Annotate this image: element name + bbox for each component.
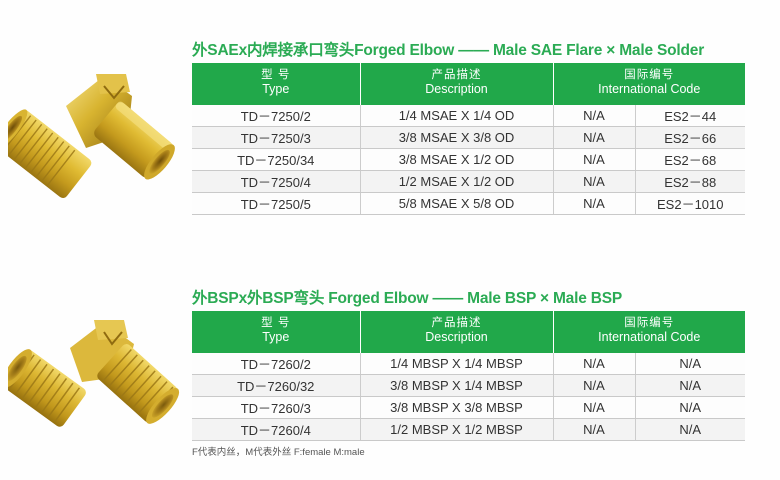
cell-description: 1/2 MBSP X 1/2 MBSP [360, 419, 553, 441]
column-header-description-en: Description [361, 330, 553, 345]
section-title: 外BSPx外BSP弯头 Forged Elbow —— Male BSP × M… [192, 286, 622, 308]
cell-type: TD－7250/34 [192, 149, 360, 171]
cell-international-code-b: N/A [635, 397, 745, 419]
cell-international-code-b: N/A [635, 419, 745, 441]
cell-international-code-b: N/A [635, 375, 745, 397]
cell-international-code-b: ES2－66 [635, 127, 745, 149]
table-header: 型 号 Type 产品描述 Description 国际编号 Internati… [192, 311, 745, 353]
cell-description: 3/8 MBSP X 3/8 MBSP [360, 397, 553, 419]
cell-international-code-a: N/A [553, 105, 635, 127]
cell-description: 5/8 MSAE X 5/8 OD [360, 193, 553, 215]
cell-description: 1/4 MSAE X 1/4 OD [360, 105, 553, 127]
column-header-description-en: Description [361, 82, 553, 97]
cell-description: 3/8 MBSP X 1/4 MBSP [360, 375, 553, 397]
footnote: F代表内丝，M代表外丝 F:female M:male [192, 444, 365, 458]
cell-type: TD－7260/2 [192, 353, 360, 375]
column-header-description: 产品描述 Description [360, 311, 553, 353]
column-header-description-cn: 产品描述 [361, 317, 553, 331]
column-header-international-code-en: International Code [554, 330, 746, 345]
table-row: TD－7250/343/8 MSAE X 1/2 ODN/AES2－68 [192, 149, 745, 171]
column-header-international-code-cn: 国际编号 [554, 69, 746, 83]
cell-international-code-a: N/A [553, 171, 635, 193]
column-header-international-code-en: International Code [554, 82, 746, 97]
table-row: TD－7260/41/2 MBSP X 1/2 MBSPN/AN/A [192, 419, 745, 441]
cell-international-code-a: N/A [553, 375, 635, 397]
column-header-type-cn: 型 号 [192, 69, 360, 83]
cell-type: TD－7250/2 [192, 105, 360, 127]
table-header: 型 号 Type 产品描述 Description 国际编号 Internati… [192, 63, 745, 105]
cell-type: TD－7260/4 [192, 419, 360, 441]
table-row: TD－7250/55/8 MSAE X 5/8 ODN/AES2－1010 [192, 193, 745, 215]
cell-description: 3/8 MSAE X 1/2 OD [360, 149, 553, 171]
table-row: TD－7260/33/8 MBSP X 3/8 MBSPN/AN/A [192, 397, 745, 419]
cell-type: TD－7250/4 [192, 171, 360, 193]
table-body: TD－7250/21/4 MSAE X 1/4 ODN/AES2－44TD－72… [192, 105, 745, 215]
column-header-international-code: 国际编号 International Code [553, 311, 745, 353]
cell-international-code-a: N/A [553, 149, 635, 171]
column-header-type-en: Type [192, 82, 360, 97]
cell-international-code-a: N/A [553, 353, 635, 375]
cell-international-code-a: N/A [553, 193, 635, 215]
cell-international-code-b: ES2－1010 [635, 193, 745, 215]
cell-type: TD－7260/32 [192, 375, 360, 397]
cell-international-code-a: N/A [553, 419, 635, 441]
table-row: TD－7260/323/8 MBSP X 1/4 MBSPN/AN/A [192, 375, 745, 397]
cell-international-code-b: ES2－88 [635, 171, 745, 193]
column-header-type: 型 号 Type [192, 311, 360, 353]
cell-description: 3/8 MSAE X 3/8 OD [360, 127, 553, 149]
column-header-type-en: Type [192, 330, 360, 345]
table-row: TD－7250/41/2 MSAE X 1/2 ODN/AES2－88 [192, 171, 745, 193]
column-header-international-code-cn: 国际编号 [554, 317, 746, 331]
cell-international-code-a: N/A [553, 397, 635, 419]
spec-table-sae-solder: 型 号 Type 产品描述 Description 国际编号 Internati… [192, 63, 745, 215]
cell-type: TD－7250/5 [192, 193, 360, 215]
table-row: TD－7250/21/4 MSAE X 1/4 ODN/AES2－44 [192, 105, 745, 127]
cell-international-code-b: ES2－44 [635, 105, 745, 127]
cell-international-code-a: N/A [553, 127, 635, 149]
cell-international-code-b: N/A [635, 353, 745, 375]
cell-description: 1/4 MBSP X 1/4 MBSP [360, 353, 553, 375]
section-title: 外SAEx内焊接承口弯头Forged Elbow —— Male SAE Fla… [192, 38, 704, 60]
catalog-page: 外SAEx内焊接承口弯头Forged Elbow —— Male SAE Fla… [0, 0, 780, 480]
cell-description: 1/2 MSAE X 1/2 OD [360, 171, 553, 193]
table-body: TD－7260/21/4 MBSP X 1/4 MBSPN/AN/ATD－726… [192, 353, 745, 441]
cell-type: TD－7260/3 [192, 397, 360, 419]
cell-type: TD－7250/3 [192, 127, 360, 149]
product-photo-male-sae-flare-x-male-solder [8, 56, 188, 206]
cell-international-code-b: ES2－68 [635, 149, 745, 171]
column-header-description: 产品描述 Description [360, 63, 553, 105]
spec-table-bsp-bsp: 型 号 Type 产品描述 Description 国际编号 Internati… [192, 311, 745, 441]
product-photo-male-bsp-x-male-bsp [8, 306, 188, 431]
table-row: TD－7250/33/8 MSAE X 3/8 ODN/AES2－66 [192, 127, 745, 149]
column-header-international-code: 国际编号 International Code [553, 63, 745, 105]
column-header-type: 型 号 Type [192, 63, 360, 105]
table-row: TD－7260/21/4 MBSP X 1/4 MBSPN/AN/A [192, 353, 745, 375]
column-header-type-cn: 型 号 [192, 317, 360, 331]
column-header-description-cn: 产品描述 [361, 69, 553, 83]
